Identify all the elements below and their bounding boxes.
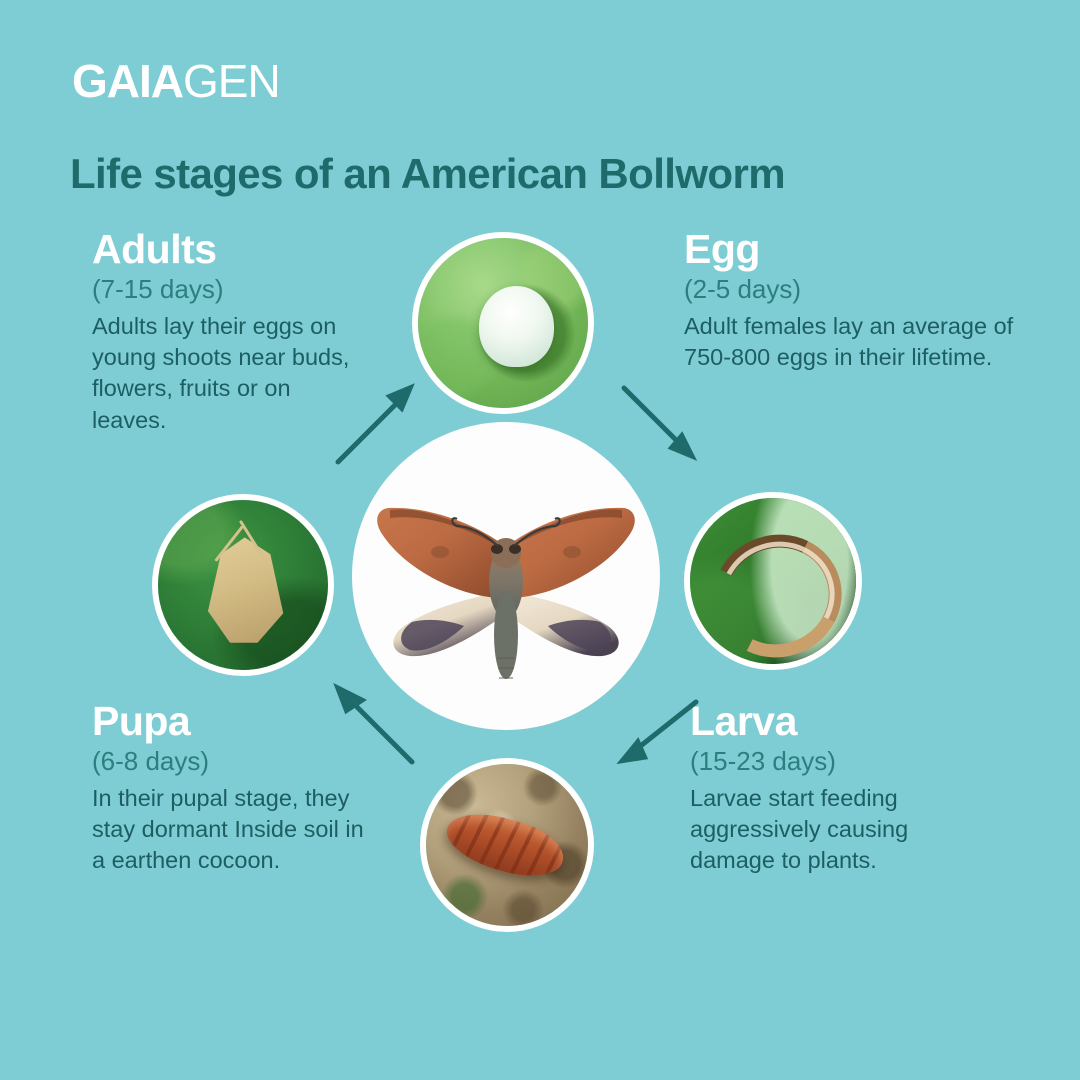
stage-duration-larva: (15-23 days): [690, 747, 960, 777]
page-title: Life stages of an American Bollworm: [70, 150, 785, 198]
stage-photo-larva: [684, 492, 862, 670]
stage-description-adults: Adults lay their eggs on young shoots ne…: [92, 311, 360, 436]
stage-description-egg: Adult females lay an average of 750-800 …: [684, 311, 1032, 374]
stage-block-egg: Egg (2-5 days) Adult females lay an aver…: [684, 228, 1032, 373]
brand-logo-bold: GAIA: [72, 55, 183, 107]
stage-description-larva: Larvae start feeding aggressively causin…: [690, 783, 960, 877]
egg-dome-shape: [479, 286, 554, 368]
egg-photo-art: [418, 238, 588, 408]
arrow-adults-to-egg-icon: [330, 378, 426, 470]
pupa-photo-art: [426, 764, 588, 926]
infographic-canvas: GAIAGEN Life stages of an American Bollw…: [0, 0, 1080, 1080]
stage-photo-egg: [412, 232, 594, 414]
stage-block-adults: Adults (7-15 days) Adults lay their eggs…: [92, 228, 360, 436]
stage-name-adults: Adults: [92, 228, 360, 271]
arrow-larva-to-pupa-icon: [604, 688, 704, 780]
arrow-egg-to-larva-icon: [612, 378, 708, 470]
stage-duration-adults: (7-15 days): [92, 275, 360, 305]
brand-logo: GAIAGEN: [72, 58, 280, 104]
stage-name-egg: Egg: [684, 228, 1032, 271]
stage-photo-pupa: [420, 758, 594, 932]
stage-name-larva: Larva: [690, 700, 960, 743]
stage-photo-adults: [152, 494, 334, 676]
stage-duration-egg: (2-5 days): [684, 275, 1032, 305]
adult-photo-art: [158, 500, 328, 670]
brand-logo-light: GEN: [183, 55, 280, 107]
arrow-pupa-to-adults-icon: [320, 678, 424, 770]
stage-block-larva: Larva (15-23 days) Larvae start feeding …: [690, 700, 960, 877]
stage-description-pupa: In their pupal stage, they stay dormant …: [92, 783, 382, 877]
larva-photo-art: [690, 498, 856, 664]
